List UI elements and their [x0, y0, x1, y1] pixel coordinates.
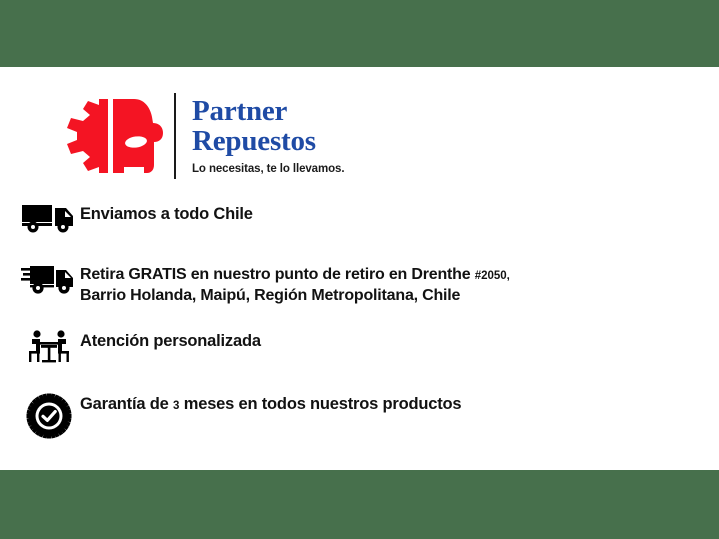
feature-row-warranty: Garantía de 3 meses en todos nuestros pr…	[18, 392, 461, 440]
brand-name-line-1: Partner	[192, 97, 344, 127]
feature-row-attention: Atención personalizada	[18, 329, 261, 365]
fast-delivery-truck-icon	[18, 262, 80, 296]
gear-car-logo-icon	[58, 95, 166, 177]
pickup-text-line2: Barrio Holanda, Maipú, Región Metropolit…	[80, 287, 460, 304]
delivery-truck-icon	[18, 202, 80, 234]
people-at-table-icon	[18, 329, 80, 365]
bottom-green-band	[0, 470, 719, 539]
pickup-street-number: #2050,	[475, 270, 510, 282]
feature-row-shipping: Enviamos a todo Chile	[18, 202, 253, 234]
promo-banner: Partner Repuestos Lo necesitas, te lo ll…	[0, 0, 719, 539]
banner-content: Partner Repuestos Lo necesitas, te lo ll…	[0, 67, 719, 470]
feature-text-attention: Atención personalizada	[80, 329, 261, 353]
warranty-text-suffix: meses en todos nuestros productos	[179, 395, 461, 413]
verified-badge-check-icon	[18, 392, 80, 440]
feature-row-pickup: Retira GRATIS en nuestro punto de retiro…	[18, 262, 510, 307]
brand-logo-lockup: Partner Repuestos Lo necesitas, te lo ll…	[58, 93, 344, 179]
brand-tagline: Lo necesitas, te lo llevamos.	[192, 163, 344, 175]
feature-text-pickup: Retira GRATIS en nuestro punto de retiro…	[80, 262, 510, 307]
feature-text-shipping: Enviamos a todo Chile	[80, 202, 253, 226]
pickup-text-line1: Retira GRATIS en nuestro punto de retiro…	[80, 266, 475, 283]
warranty-text-prefix: Garantía de	[80, 395, 173, 413]
logo-divider	[174, 93, 176, 179]
brand-wordmark: Partner Repuestos Lo necesitas, te lo ll…	[192, 97, 344, 175]
feature-text-warranty: Garantía de 3 meses en todos nuestros pr…	[80, 392, 461, 416]
brand-name-line-2: Repuestos	[192, 127, 344, 157]
top-green-band	[0, 0, 719, 67]
